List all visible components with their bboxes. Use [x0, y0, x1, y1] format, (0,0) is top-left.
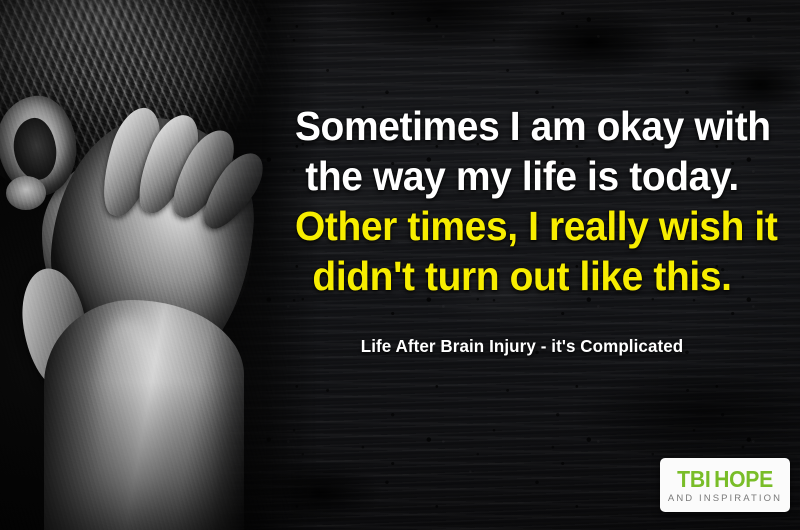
quote-poster: Sometimes I am okay with the way my life… — [0, 0, 800, 530]
logo-word-tbi: TBI — [677, 466, 710, 492]
quote-block: Sometimes I am okay with the way my life… — [283, 101, 761, 301]
tbi-hope-logo[interactable]: TBIHOPE AND INSPIRATION — [660, 458, 790, 512]
quote-line-2: the way my life is today. — [295, 151, 749, 201]
logo-tagline: AND INSPIRATION — [668, 493, 782, 505]
quote-line-1: Sometimes I am okay with — [295, 101, 749, 151]
subtitle: Life After Brain Injury - it's Complicat… — [290, 336, 754, 357]
logo-word-hope: HOPE — [714, 466, 773, 492]
quote-line-4: didn't turn out like this. — [295, 251, 749, 301]
logo-wordmark: TBIHOPE — [677, 467, 773, 491]
quote-line-3: Other times, I really wish it — [295, 201, 749, 251]
